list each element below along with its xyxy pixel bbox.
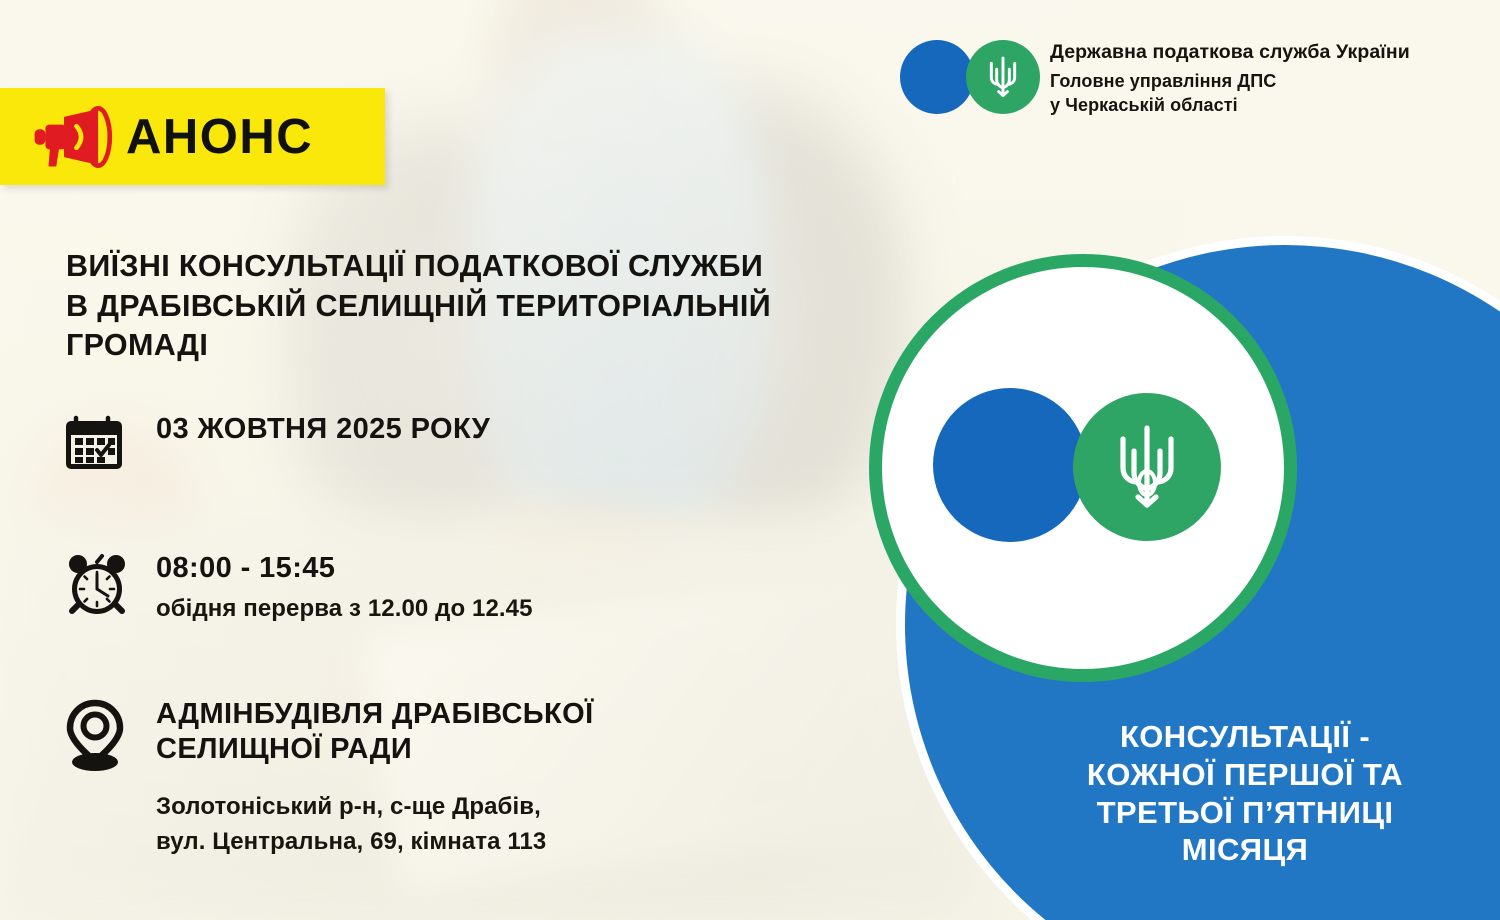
dps-emblem-medallion	[869, 254, 1297, 682]
emblem-blue-circle	[933, 388, 1087, 542]
detail-row-date: 03 ЖОВТНЯ 2025 РОКУ	[64, 412, 884, 477]
venue-address-line2: вул. Центральна, 69, кімната 113	[156, 825, 884, 860]
header-green-circle	[966, 40, 1040, 114]
panel-caption: КОНСУЛЬТАЦІЇ - КОЖНОЇ ПЕРШОЇ ТА ТРЕТЬОЇ …	[1010, 718, 1480, 869]
venue-name-line2: СЕЛИЩНОЇ РАДИ	[156, 732, 884, 767]
venue-address: Золотоніський р-н, с-ще Драбів, вул. Цен…	[156, 790, 884, 860]
header-logo-block: Державна податкова служба України Головн…	[900, 36, 1410, 118]
header-logo-mark	[900, 36, 1030, 118]
poster-canvas: КОНСУЛЬТАЦІЇ - КОЖНОЇ ПЕРШОЇ ТА ТРЕТЬОЇ …	[0, 0, 1500, 920]
venue-name-line1: АДМІНБУДІВЛЯ ДРАБІВСЬКОЇ	[156, 697, 884, 732]
venue-address-line1: Золотоніський р-н, с-ще Драбів,	[156, 790, 884, 825]
calendar-icon-slot	[64, 412, 156, 477]
header-org-line2: Головне управління ДПС	[1050, 70, 1410, 93]
announce-badge-label: АНОНС	[126, 109, 313, 165]
detail-row-place: АДМІНБУДІВЛЯ ДРАБІВСЬКОЇ СЕЛИЩНОЇ РАДИ З…	[64, 697, 884, 859]
panel-caption-line1: КОНСУЛЬТАЦІЇ -	[1010, 718, 1480, 756]
panel-caption-line2: КОЖНОЇ ПЕРШОЇ ТА	[1010, 756, 1480, 794]
announce-badge: АНОНС	[0, 88, 385, 185]
page-title-line1: ВИЇЗНІ КОНСУЛЬТАЦІЇ ПОДАТКОВОЇ СЛУЖБИ	[66, 247, 896, 287]
details-list: 03 ЖОВТНЯ 2025 РОКУ	[64, 412, 884, 859]
header-org-text: Державна податкова служба України Головн…	[1050, 36, 1410, 117]
page-title-line2: В ДРАБІВСЬКІЙ СЕЛИЩНІЙ ТЕРИТОРІАЛЬНІЙ	[66, 287, 896, 327]
megaphone-icon	[28, 106, 114, 168]
header-blue-circle	[900, 40, 974, 114]
event-date: 03 ЖОВТНЯ 2025 РОКУ	[156, 412, 884, 447]
event-lunch-break: обідня перерва з 12.00 до 12.45	[156, 593, 884, 625]
alarm-clock-icon	[64, 553, 130, 619]
trident-icon	[1110, 421, 1184, 513]
event-time: 08:00 - 15:45	[156, 551, 884, 586]
detail-row-place-body: АДМІНБУДІВЛЯ ДРАБІВСЬКОЇ СЕЛИЩНОЇ РАДИ З…	[156, 697, 884, 859]
header-org-line3: у Черкаській області	[1050, 94, 1410, 117]
panel-caption-line4: МІСЯЦЯ	[1010, 831, 1480, 869]
detail-row-time-body: 08:00 - 15:45 обідня перерва з 12.00 до …	[156, 551, 884, 625]
trident-icon-small	[985, 54, 1021, 100]
calendar-icon	[64, 414, 124, 472]
detail-row-date-body: 03 ЖОВТНЯ 2025 РОКУ	[156, 412, 884, 447]
header-org-line1: Державна податкова служба України	[1050, 40, 1410, 64]
page-title: ВИЇЗНІ КОНСУЛЬТАЦІЇ ПОДАТКОВОЇ СЛУЖБИ В …	[66, 247, 896, 366]
map-pin-icon	[64, 699, 126, 771]
emblem-green-circle	[1073, 393, 1221, 541]
map-pin-icon-slot	[64, 697, 156, 776]
page-title-line3: ГРОМАДІ	[66, 326, 896, 366]
detail-row-time: 08:00 - 15:45 обідня перерва з 12.00 до …	[64, 551, 884, 625]
alarm-clock-icon-slot	[64, 551, 156, 624]
panel-caption-line3: ТРЕТЬОЇ П’ЯТНИЦІ	[1010, 794, 1480, 832]
